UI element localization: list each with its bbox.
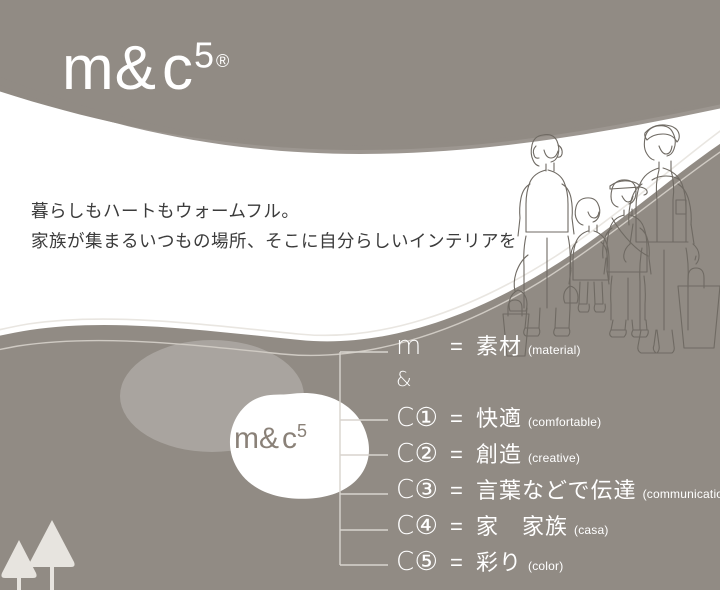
legend-row: C⑤=彩り(color) <box>396 549 563 583</box>
legend-term-english: (casa) <box>574 524 609 536</box>
brand-logo-m: m <box>62 34 115 103</box>
legend-term-japanese: 快適 <box>476 409 522 431</box>
brand-logo-ampersand: & <box>115 34 162 103</box>
legend-term-english: (communication) <box>643 488 720 500</box>
blob-label-superscript: 5 <box>297 421 307 441</box>
tagline: 暮らしもハートもウォームフル。 家族が集まるいつもの場所、そこに自分らしいインテ… <box>31 197 517 257</box>
tagline-line-2: 家族が集まるいつもの場所、そこに自分らしいインテリアを <box>31 227 517 257</box>
legend-term-japanese: 素材 <box>476 337 522 359</box>
legend-key: m <box>396 333 450 359</box>
poster-canvas: m&c5® 暮らしもハートもウォームフル。 家族が集まるいつもの場所、そこに自分… <box>0 0 720 590</box>
legend-row: C②=創造(creative) <box>396 441 580 475</box>
brand-logo-superscript: 5 <box>194 34 215 75</box>
legend-row: m=素材(material) <box>396 333 581 367</box>
blob-label-m: m <box>234 422 259 455</box>
blob-label-c: c <box>282 422 297 455</box>
center-blob-label: m&c5 <box>234 424 307 454</box>
registered-trademark-icon: ® <box>216 51 230 71</box>
blob-label-ampersand: & <box>259 422 282 455</box>
legend-equals-sign: = <box>450 516 476 538</box>
legend-row: C④=家 家族(casa) <box>396 513 609 547</box>
legend-key: C③ <box>396 477 450 503</box>
brand-logo-c: c <box>162 34 194 103</box>
legend-term-english: (comfortable) <box>528 416 601 428</box>
legend-term-japanese: 創造 <box>476 445 522 467</box>
legend-term-english: (creative) <box>528 452 580 464</box>
brand-logo: m&c5® <box>62 38 230 100</box>
legend-term-english: (material) <box>528 344 581 356</box>
legend-key: C② <box>396 441 450 467</box>
tagline-line-1: 暮らしもハートもウォームフル。 <box>31 197 517 227</box>
legend-row: & <box>396 369 450 403</box>
legend-row: C③=言葉などで伝達(communication) <box>396 477 720 511</box>
legend-key: C① <box>396 405 450 431</box>
legend-term-english: (color) <box>528 560 563 572</box>
legend-term-japanese: 家 家族 <box>476 517 568 539</box>
legend-equals-sign: = <box>450 336 476 358</box>
legend-row: C①=快適(comfortable) <box>396 405 601 439</box>
legend-key: & <box>396 369 450 389</box>
legend-term-japanese: 言葉などで伝達 <box>476 481 637 503</box>
legend-term-japanese: 彩り <box>476 553 522 575</box>
legend-equals-sign: = <box>450 480 476 502</box>
legend-equals-sign: = <box>450 444 476 466</box>
legend-key: C④ <box>396 513 450 539</box>
legend-equals-sign: = <box>450 408 476 430</box>
legend-key: C⑤ <box>396 549 450 575</box>
legend-equals-sign: = <box>450 552 476 574</box>
